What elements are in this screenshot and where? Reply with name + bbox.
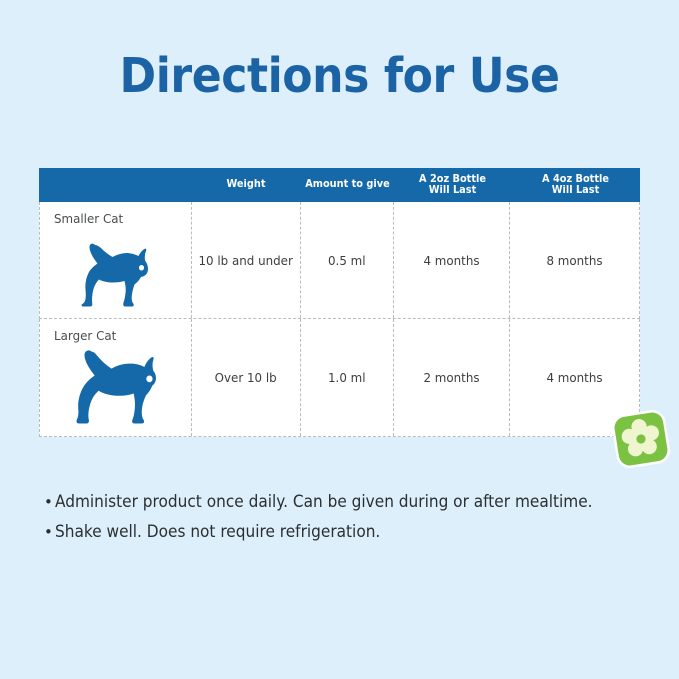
row-weight-cell: 10 lb and under — [192, 202, 302, 318]
large-cat-icon — [40, 346, 191, 432]
table-row: Larger Cat Over 10 lb 1.0 ml 2 months 4 … — [39, 319, 640, 437]
table-header-bottle-4oz-line2: Will Last — [552, 184, 600, 196]
row-weight-value: 10 lb and under — [199, 253, 293, 268]
note-text: Shake well. Does not require refrigerati… — [55, 522, 380, 541]
row-amount-value: 1.0 ml — [328, 370, 366, 385]
row-amount-cell: 1.0 ml — [301, 319, 394, 436]
row-bottle-4oz-value: 4 months — [547, 370, 603, 385]
note-text: Administer product once daily. Can be gi… — [55, 492, 593, 511]
row-bottle-4oz-cell: 8 months — [510, 202, 639, 318]
notes-list: • Administer product once daily. Can be … — [44, 492, 644, 552]
animal-label: Larger Cat — [54, 328, 116, 343]
directions-for-use-page: Directions for Use Weight Amount to give… — [0, 0, 679, 679]
row-weight-value: Over 10 lb — [215, 370, 277, 385]
table-header-row: Weight Amount to give A 2oz Bottle Will … — [39, 168, 640, 202]
row-amount-value: 0.5 ml — [328, 253, 366, 268]
table-header-bottle-2oz-line1: A 2oz Bottle — [419, 173, 486, 185]
row-animal-cell: Smaller Cat — [40, 202, 192, 318]
row-animal-cell: Larger Cat — [40, 319, 192, 436]
small-cat-icon — [40, 238, 191, 312]
row-amount-cell: 0.5 ml — [301, 202, 394, 318]
dosing-table: Weight Amount to give A 2oz Bottle Will … — [39, 168, 640, 437]
table-row: Smaller Cat 10 lb and under 0.5 ml 4 mon… — [39, 202, 640, 319]
row-bottle-4oz-value: 8 months — [547, 253, 603, 268]
table-header-bottle-4oz: A 4oz Bottle Will Last — [516, 174, 636, 197]
bullet-icon: • — [44, 525, 55, 540]
bullet-icon: • — [44, 495, 55, 510]
animal-label: Smaller Cat — [54, 211, 123, 226]
row-bottle-2oz-value: 4 months — [424, 253, 480, 268]
page-title: Directions for Use — [27, 48, 652, 104]
table-header-bottle-4oz-line1: A 4oz Bottle — [542, 173, 609, 185]
row-bottle-2oz-cell: 2 months — [394, 319, 511, 436]
row-bottle-2oz-cell: 4 months — [394, 202, 511, 318]
green-flower-badge-icon — [608, 406, 674, 472]
list-item: • Administer product once daily. Can be … — [44, 492, 644, 511]
table-header-amount: Amount to give — [304, 179, 390, 191]
table-header-bottle-2oz-line2: Will Last — [429, 184, 477, 196]
row-weight-cell: Over 10 lb — [192, 319, 302, 436]
list-item: • Shake well. Does not require refrigera… — [44, 522, 644, 541]
table-header-bottle-2oz: A 2oz Bottle Will Last — [398, 174, 507, 197]
row-bottle-2oz-value: 2 months — [424, 370, 480, 385]
table-header-weight: Weight — [195, 179, 297, 191]
